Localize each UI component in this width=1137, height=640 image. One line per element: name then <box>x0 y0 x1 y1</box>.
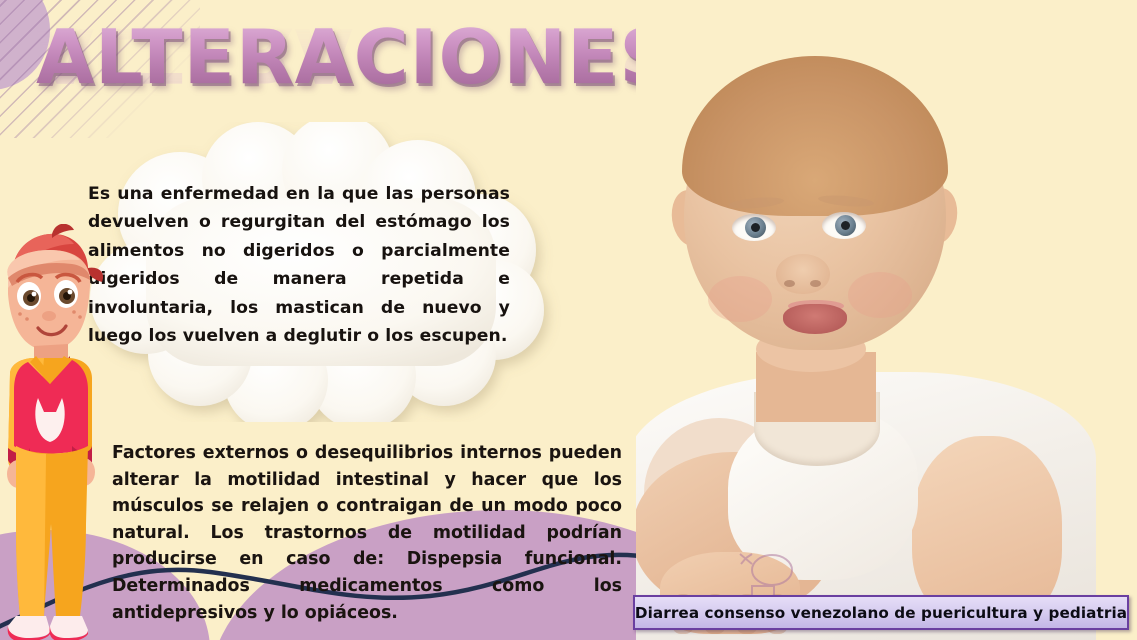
baby-eye-left <box>732 214 776 241</box>
baby-photo <box>636 0 1137 640</box>
caption-label: Diarrea consenso venezolano de puericult… <box>635 604 1127 622</box>
cloud-text: Es una enfermedad en la que las personas… <box>88 180 510 350</box>
baby-mouth <box>783 304 847 334</box>
baby-cheek-right <box>848 272 912 318</box>
slide-canvas: ALTERACIONES ALTERACIONES <box>0 0 1137 640</box>
caption-bar[interactable]: Diarrea consenso venezolano de puericult… <box>633 595 1129 630</box>
page-title: ALTERACIONES <box>36 14 736 100</box>
baby-nose <box>776 254 830 294</box>
body-paragraph: Factores externos o desequilibrios inter… <box>112 440 622 626</box>
baby-eye-right <box>822 212 866 239</box>
cartoon-boy-illustration <box>0 224 106 640</box>
baby-cheek-left <box>708 276 772 322</box>
